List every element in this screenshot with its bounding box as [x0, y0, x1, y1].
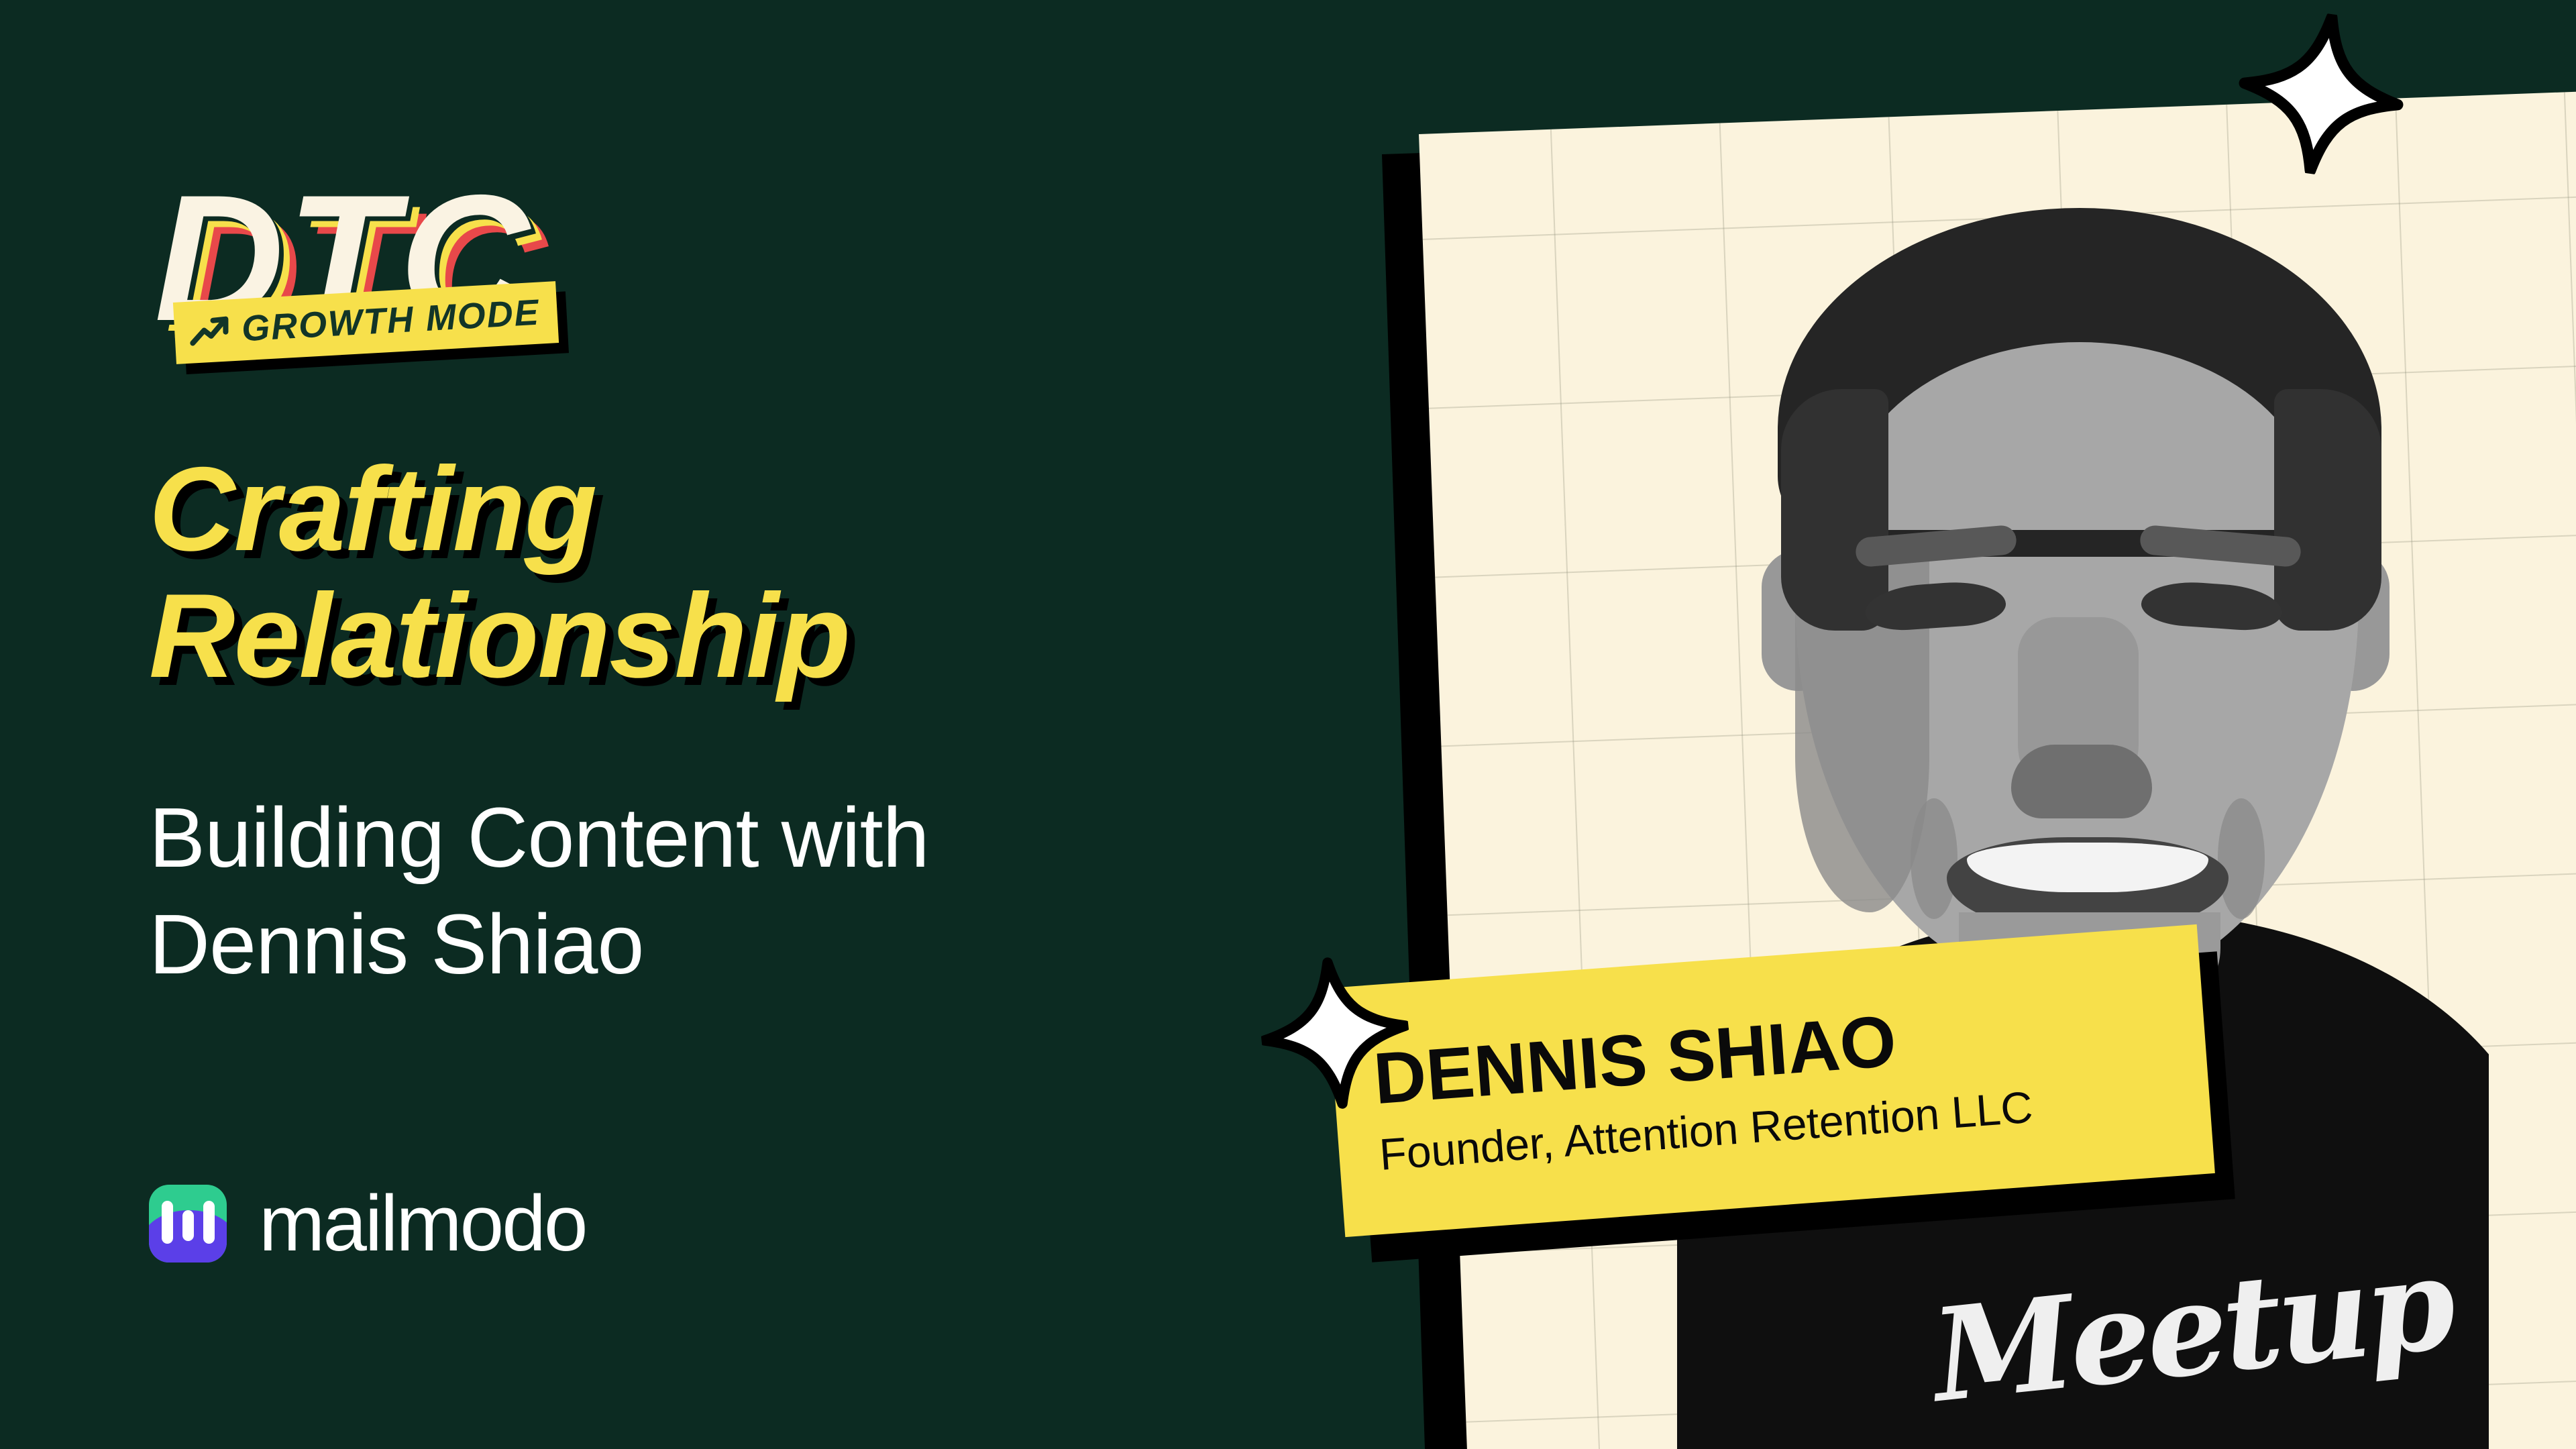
mailmodo-icon-bar-2 — [182, 1210, 194, 1241]
headline-title: Crafting Relationship — [149, 446, 1195, 699]
portrait-smile-line-left — [1911, 798, 1957, 919]
mailmodo-icon-bar-1 — [162, 1201, 173, 1244]
portrait-hair-temple-right — [2274, 389, 2381, 631]
mailmodo-wordmark: mailmodo — [259, 1184, 586, 1263]
portrait-nose-shadow — [2011, 745, 2152, 818]
subtitle-line-1: Building Content with — [149, 785, 1222, 892]
dtc-logo: DTC DTC DTC DTC GROWTH MODE — [154, 168, 651, 389]
promo-thumbnail: Meetup DENNIS SHIAO Founder, Attention R… — [0, 0, 2576, 1449]
speaker-name-card: DENNIS SHIAO Founder, Attention Retentio… — [1335, 956, 2227, 1251]
mailmodo-logo-icon — [149, 1185, 227, 1263]
portrait-hair-temple-left — [1781, 389, 1888, 631]
headline-line-2: Relationship — [149, 573, 1195, 700]
mailmodo-icon-bar-3 — [203, 1201, 215, 1244]
subtitle-line-2: Dennis Shiao — [149, 892, 1222, 998]
left-content-panel: DTC DTC DTC DTC GROWTH MODE Crafting Rel… — [0, 0, 1368, 1449]
growth-mode-badge-label: GROWTH MODE — [241, 292, 541, 350]
four-point-sparkle-icon — [2224, 2, 2419, 186]
headline-line-1: Crafting — [149, 446, 1195, 573]
mailmodo-logo: mailmodo — [149, 1184, 586, 1263]
portrait-smile-line-right — [2218, 798, 2265, 919]
trending-up-arrow-icon — [189, 314, 231, 347]
subtitle-block: Building Content with Dennis Shiao — [149, 785, 1222, 998]
